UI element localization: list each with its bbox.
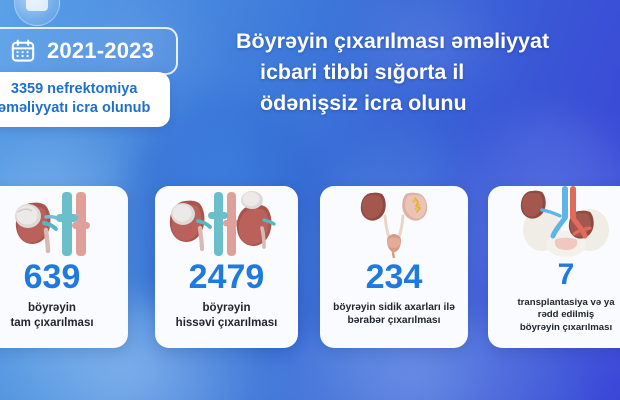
page-title: Böyrəyin çıxarılması əməliyyat icbari ti…: [236, 26, 620, 120]
stat-value: 2479: [189, 260, 265, 294]
kidney-transplant-rejection-icon: [488, 186, 620, 258]
stat-caption-line-2: bərabər çıxarılması: [333, 314, 455, 327]
operations-count-line-2: əməliyyatı icra olunub: [0, 99, 150, 118]
stat-value: 234: [366, 260, 423, 294]
kidney-partial-removal-icon: [155, 186, 298, 258]
date-range-badge: 2021-2023: [0, 27, 178, 75]
statistics-card-row: 639 böyrəyin tam çıxarılması: [0, 186, 620, 348]
stat-caption-line-1: böyrəyin: [10, 301, 93, 316]
stat-caption: böyrəyin hissəvi çıxarılması: [176, 301, 278, 330]
stat-caption-line-3: böyrəyin çıxarılması: [517, 322, 614, 334]
kidney-ureter-bladder-icon: [320, 186, 468, 258]
operations-count-line-1: 3359 nefrektomiya: [0, 80, 150, 99]
stat-value: 639: [24, 260, 81, 294]
stat-caption-line-2: rədd edilmiş: [517, 309, 614, 321]
stat-caption: transplantasiya və ya rədd edilmiş böyrə…: [517, 297, 614, 334]
stat-caption: böyrəyin sidik axarları ilə bərabər çıxa…: [333, 301, 455, 327]
date-range-label: 2021-2023: [47, 38, 154, 64]
headline-line-3: ödənişsiz icra olunu: [236, 88, 620, 119]
stat-caption-line-1: transplantasiya və ya: [517, 297, 614, 309]
stat-card: 639 böyrəyin tam çıxarılması: [0, 186, 128, 348]
operations-count-badge: 3359 nefrektomiya əməliyyatı icra olunub: [0, 72, 170, 127]
stat-value: 7: [558, 260, 575, 290]
stat-caption-line-2: hissəvi çıxarılması: [176, 316, 278, 331]
calendar-icon: [10, 38, 36, 64]
stat-caption: böyrəyin tam çıxarılması: [10, 301, 93, 330]
stat-card: 7 transplantasiya və ya rədd edilmiş böy…: [488, 186, 620, 348]
stat-caption-line-1: böyrəyin: [176, 301, 278, 316]
stat-caption-line-1: böyrəyin sidik axarları ilə: [333, 301, 455, 314]
headline-line-2: icbari tibbi sığorta il: [236, 57, 620, 88]
kidney-full-removal-icon: [0, 186, 128, 258]
headline-line-1: Böyrəyin çıxarılması əməliyyat: [236, 26, 620, 57]
stat-caption-line-2: tam çıxarılması: [10, 316, 93, 331]
infographic-canvas: 2021-2023 3359 nefrektomiya əməliyyatı i…: [0, 0, 620, 400]
stat-card: 234 böyrəyin sidik axarları ilə bərabər …: [320, 186, 468, 348]
stat-card: 2479 böyrəyin hissəvi çıxarılması: [155, 186, 298, 348]
